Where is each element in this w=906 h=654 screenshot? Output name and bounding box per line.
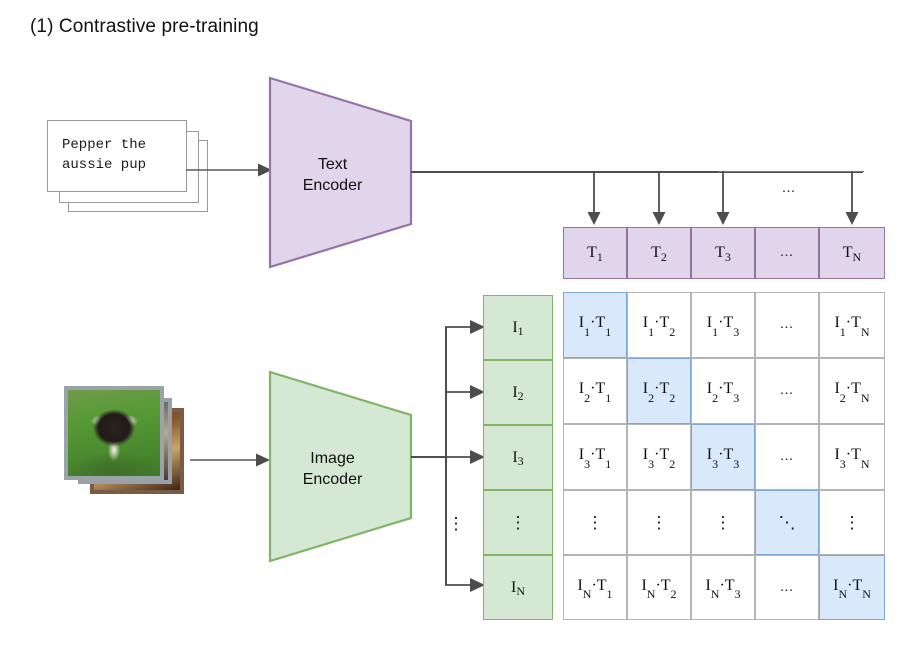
matrix-cell-5-3-label: IN·T3 [705,577,740,598]
i-cell-ellipsis[interactable]: ⋮ [483,490,553,555]
matrix-cell-1-5-label: I1·TN [834,314,869,335]
t-cell-1-base: T [587,244,597,262]
text-encoder-line1: Text [318,156,347,173]
matrix-cell-5-5-label: IN·TN [833,577,871,598]
matrix-cell-5-4-label: ... [780,580,794,596]
matrix-cell-1-5[interactable]: I1·TN [819,292,885,358]
i-cell-1[interactable]: I1 [483,295,553,360]
matrix-cell-1-1-label: I1·T1 [579,314,611,335]
figure-title: (1) Contrastive pre-training [30,16,259,38]
matrix-cell-2-4-label: ... [780,383,794,399]
t-cell-1-sub: 1 [597,250,603,265]
t-cell-n-base: T [843,244,853,262]
image-encoder-line1: Image [310,450,354,467]
i-cell-n[interactable]: IN [483,555,553,620]
matrix-cell-1-1[interactable]: I1·T1 [563,292,627,358]
matrix-cell-3-3-label: I3·T3 [707,446,739,467]
matrix-cell-4-3[interactable]: ⋮ [691,490,755,555]
matrix-cell-3-4[interactable]: ... [755,424,819,490]
matrix-cell-1-2-label: I1·T2 [643,314,675,335]
matrix-cell-3-3[interactable]: I3·T3 [691,424,755,490]
i-cell-2-sub: 2 [518,389,524,404]
matrix-cell-5-5[interactable]: IN·TN [819,555,885,620]
arrow-text-to-t2 [652,171,666,227]
text-encoder-line2: Encoder [303,177,363,194]
matrix-cell-4-2[interactable]: ⋮ [627,490,691,555]
matrix-cell-4-1-label: ⋮ [587,514,604,531]
text-bus-horizontal-thin [718,171,864,172]
arrow-image-to-in [445,574,487,596]
i-cell-ellipsis-label: ⋮ [510,514,527,531]
matrix-cell-4-4[interactable]: ⋱ [755,490,819,555]
image-encoder[interactable]: Image Encoder [268,370,413,563]
text-card-caption: Pepper the aussie pup [62,135,178,175]
arrow-text-to-t3 [716,171,730,227]
matrix-cell-3-5-label: I3·TN [834,446,869,467]
matrix-cell-5-2[interactable]: IN·T2 [627,555,691,620]
matrix-cell-2-5-label: I2·TN [834,380,869,401]
text-bus-ellipsis: ... [757,178,821,200]
matrix-cell-5-1[interactable]: IN·T1 [563,555,627,620]
image-encoder-label: Image Encoder [260,448,405,490]
matrix-cell-5-3[interactable]: IN·T3 [691,555,755,620]
arrow-image-to-i2 [445,381,487,403]
text-card-front: Pepper the aussie pup [47,120,187,192]
matrix-cell-4-5-label: ⋮ [844,514,861,531]
i-cell-3-sub: 3 [518,454,524,469]
t-cell-ellipsis[interactable]: ... [755,227,819,279]
matrix-cell-5-4[interactable]: ... [755,555,819,620]
text-encoder-label: Text Encoder [260,154,405,196]
image-input-stack [64,386,204,501]
arrow-text-to-t1 [587,171,601,227]
matrix-cell-4-3-label: ⋮ [715,514,732,531]
image-bus-horizontal [411,456,447,458]
matrix-cell-3-1[interactable]: I3·T1 [563,424,627,490]
i-cell-n-sub: N [516,584,525,599]
i-cell-1-sub: 1 [518,324,524,339]
ellipsis-vertical-bus: ⋮ [448,515,465,532]
matrix-cell-3-4-label: ... [780,449,794,465]
t-cell-ellipsis-label: ... [780,245,794,261]
matrix-cell-1-3-label: I1·T3 [707,314,739,335]
image-bus-ellipsis: ⋮ [448,508,464,538]
matrix-cell-4-4-label: ⋱ [779,514,796,531]
matrix-cell-3-2-label: I3·T2 [643,446,675,467]
t-cell-2-sub: 2 [661,250,667,265]
i-cell-2[interactable]: I2 [483,360,553,425]
matrix-cell-5-1-label: IN·T1 [577,577,612,598]
image-card-front-puppy-photo [64,386,164,480]
image-encoder-line2: Encoder [303,471,363,488]
matrix-cell-2-5[interactable]: I2·TN [819,358,885,424]
matrix-cell-3-2[interactable]: I3·T2 [627,424,691,490]
arrow-image-to-i1 [445,316,487,338]
matrix-cell-4-2-label: ⋮ [651,514,668,531]
t-cell-2-base: T [651,244,661,262]
arrow-text-to-tn [845,171,859,227]
t-cell-2[interactable]: T2 [627,227,691,279]
matrix-cell-1-3[interactable]: I1·T3 [691,292,755,358]
matrix-cell-1-2[interactable]: I1·T2 [627,292,691,358]
ellipsis-horizontal-bus: ... [782,181,796,197]
matrix-cell-2-2[interactable]: I2·T2 [627,358,691,424]
matrix-cell-2-3-label: I2·T3 [707,380,739,401]
t-cell-n[interactable]: TN [819,227,885,279]
matrix-cell-1-4[interactable]: ... [755,292,819,358]
caption-line-2: aussie pup [62,157,146,173]
matrix-cell-4-5[interactable]: ⋮ [819,490,885,555]
arrow-image-to-i3 [445,446,487,468]
figure-canvas: (1) Contrastive pre-training Pepper the … [0,0,906,654]
matrix-cell-3-1-label: I3·T1 [579,446,611,467]
matrix-cell-2-2-label: I2·T2 [643,380,675,401]
i-cell-3[interactable]: I3 [483,425,553,490]
t-cell-3[interactable]: T3 [691,227,755,279]
text-encoder[interactable]: Text Encoder [268,76,413,269]
t-cell-1[interactable]: T1 [563,227,627,279]
matrix-cell-1-4-label: ... [780,317,794,333]
caption-line-1: Pepper the [62,137,146,153]
matrix-cell-2-3[interactable]: I2·T3 [691,358,755,424]
t-cell-3-sub: 3 [725,250,731,265]
matrix-cell-2-1[interactable]: I2·T1 [563,358,627,424]
matrix-cell-5-2-label: IN·T2 [641,577,676,598]
t-cell-3-base: T [715,244,725,262]
matrix-cell-2-4[interactable]: ... [755,358,819,424]
t-cell-n-sub: N [853,250,862,265]
matrix-cell-3-5[interactable]: I3·TN [819,424,885,490]
matrix-cell-2-1-label: I2·T1 [579,380,611,401]
matrix-cell-4-1[interactable]: ⋮ [563,490,627,555]
